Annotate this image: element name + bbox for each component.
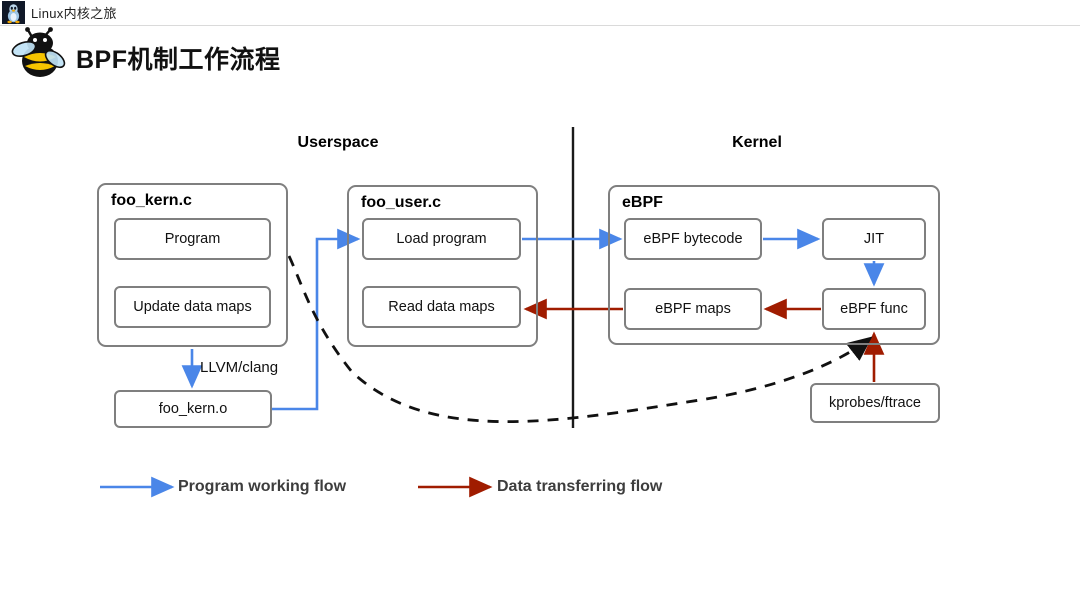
bpf-workflow-diagram: Userspace Kernel foo_kern.c Program Upda… (0, 90, 1080, 608)
legend-arrows (0, 90, 1080, 608)
page-title: BPF机制工作流程 (76, 40, 281, 76)
brand-name: Linux内核之旅 (31, 3, 117, 22)
bpf-bee-icon (10, 27, 74, 83)
header-bar: Linux内核之旅 (0, 0, 1080, 26)
legend-label-data-flow: Data transferring flow (497, 478, 662, 496)
linux-penguin-icon (2, 1, 25, 24)
legend: Program working flow Data transferring f… (0, 90, 1080, 608)
legend-label-program-flow: Program working flow (178, 478, 346, 496)
